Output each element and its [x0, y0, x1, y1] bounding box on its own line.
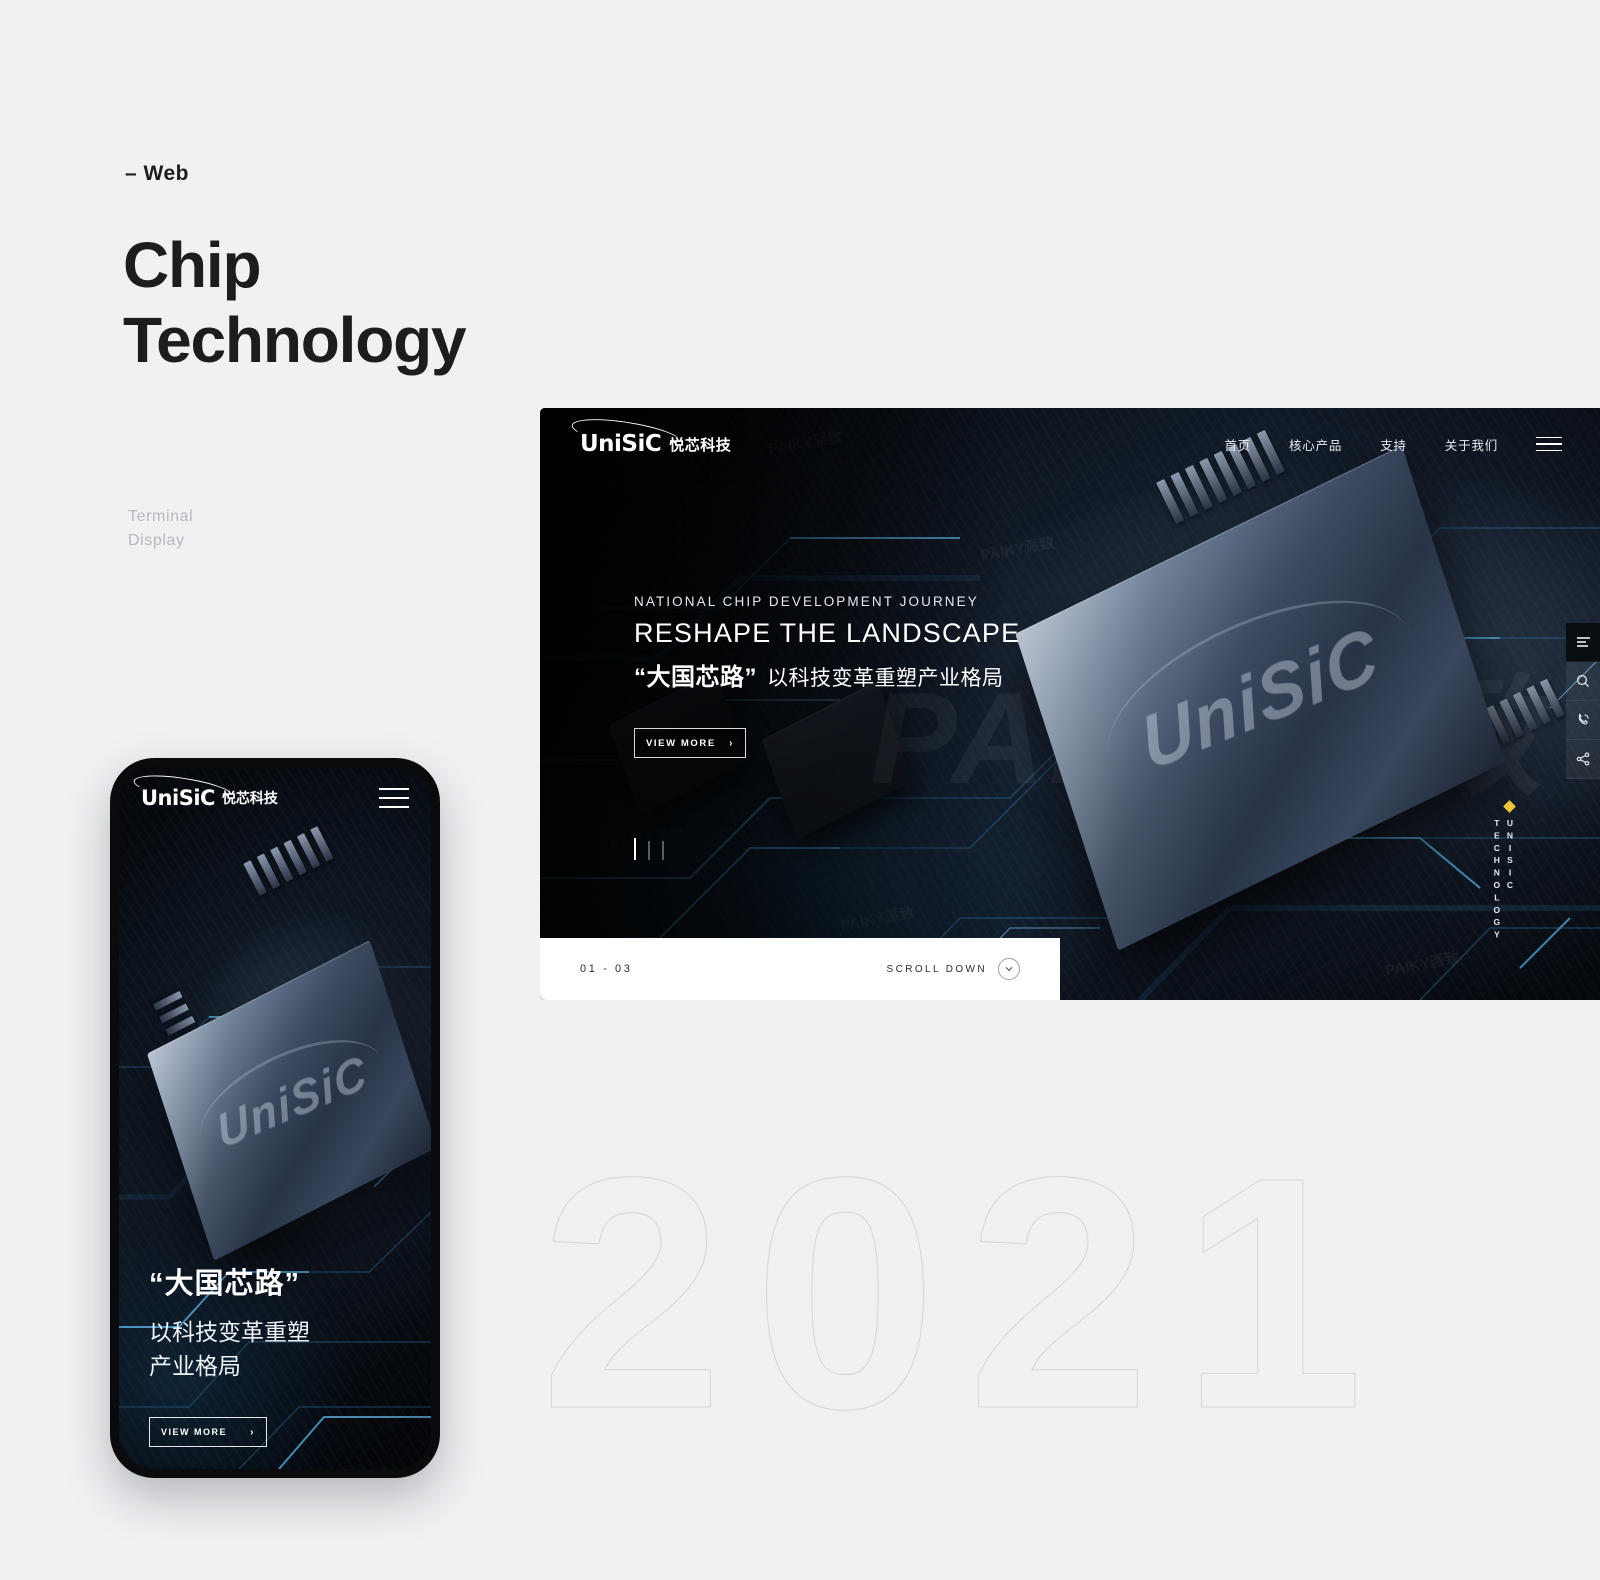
case-study-note-line2: Display: [128, 529, 193, 553]
scroll-down-label: SCROLL DOWN: [887, 964, 987, 975]
case-study-kicker: – Web: [125, 162, 189, 186]
nav-item-products[interactable]: 核心产品: [1289, 435, 1342, 454]
primary-nav: 首页 核心产品 支持 关于我们: [1224, 435, 1562, 454]
phone-hero-chinese-sub: 以科技变革重塑 产业格局: [149, 1316, 310, 1383]
phone-logo-wordmark: UniSiC: [141, 786, 215, 810]
phone-icon[interactable]: [1566, 701, 1600, 740]
phone-hero-sub-line2: 产业格局: [149, 1350, 310, 1383]
side-rail: [1566, 623, 1600, 779]
page-title-line2: Technology: [123, 303, 465, 378]
phone-site-logo[interactable]: UniSiC 悦芯科技: [141, 786, 278, 810]
page-title: Chip Technology: [123, 228, 465, 378]
phone-hero-sub-line1: 以科技变革重塑: [149, 1316, 310, 1349]
chevron-down-icon[interactable]: [998, 958, 1020, 980]
slide-pagination: 01 - 03: [580, 963, 632, 975]
phone-hero-chinese-quote: “大国芯路”: [149, 1260, 310, 1302]
hero-chinese-line: “大国芯路” 以科技变革重塑产业格局: [634, 657, 1020, 692]
hero-eyebrow: NATIONAL CHIP DEVELOPMENT JOURNEY: [634, 594, 1020, 609]
case-study-note-line1: Terminal: [128, 505, 193, 529]
logo-wordmark: UniSiC: [580, 431, 661, 457]
slide-indicators[interactable]: [634, 838, 664, 860]
desktop-mockup: PAIKY派致 PAIKY派致 PAIKY派致 PAIKY派致 PAIKY派致 …: [540, 408, 1600, 1000]
page-title-line1: Chip: [123, 228, 465, 303]
hero-chinese-sub: 以科技变革重塑产业格局: [767, 662, 1004, 692]
share-icon[interactable]: [1566, 740, 1600, 779]
hamburger-icon[interactable]: [1536, 437, 1562, 452]
scroll-down-control[interactable]: SCROLL DOWN: [887, 958, 1020, 980]
phone-screen: UniSiC UniSiC 悦芯科技 “大国芯路” 以科技变革重塑 产业格局 V…: [119, 767, 431, 1469]
menu-list-icon[interactable]: [1566, 623, 1600, 662]
slide-indicator-1[interactable]: [634, 838, 636, 860]
chevron-right-icon: ›: [729, 738, 734, 749]
phone-hamburger-icon[interactable]: [379, 788, 409, 808]
view-more-button[interactable]: VIEW MORE ›: [634, 728, 746, 758]
view-more-label: VIEW MORE: [646, 738, 716, 749]
year-outline-text: 2021: [540, 1128, 1394, 1458]
hero-chinese-quote: “大国芯路”: [634, 657, 757, 692]
phone-mockup: UniSiC UniSiC 悦芯科技 “大国芯路” 以科技变革重塑 产业格局 V…: [110, 758, 440, 1478]
hero-content: NATIONAL CHIP DEVELOPMENT JOURNEY RESHAP…: [634, 594, 1020, 758]
phone-view-more-label: VIEW MORE: [161, 1427, 227, 1437]
vertical-brand-line1: UNISIC: [1505, 818, 1515, 892]
site-logo[interactable]: UniSiC 悦芯科技: [580, 431, 731, 457]
vertical-brand-line2: TECHNOLOGY: [1492, 818, 1502, 942]
case-study-note: Terminal Display: [128, 505, 193, 553]
nav-item-home[interactable]: 首页: [1224, 435, 1251, 454]
phone-hero-content: “大国芯路” 以科技变革重塑 产业格局: [149, 1260, 310, 1383]
phone-view-more-button[interactable]: VIEW MORE ›: [149, 1417, 267, 1447]
slide-indicator-3[interactable]: [662, 841, 664, 860]
hero-headline: RESHAPE THE LANDSCAPE: [634, 618, 1020, 649]
slide-indicator-2[interactable]: [648, 841, 650, 860]
search-icon[interactable]: [1566, 662, 1600, 701]
vertical-brand-text: UNISIC TECHNOLOGY: [1490, 818, 1516, 1000]
phone-header: UniSiC 悦芯科技: [119, 767, 431, 829]
hero-bottom-bar: 01 - 03 SCROLL DOWN: [540, 938, 1060, 1000]
phone-chevron-right-icon: ›: [250, 1427, 255, 1438]
nav-item-about[interactable]: 关于我们: [1445, 435, 1498, 454]
site-header: UniSiC 悦芯科技 首页 核心产品 支持 关于我们: [540, 408, 1600, 480]
nav-item-support[interactable]: 支持: [1380, 435, 1407, 454]
